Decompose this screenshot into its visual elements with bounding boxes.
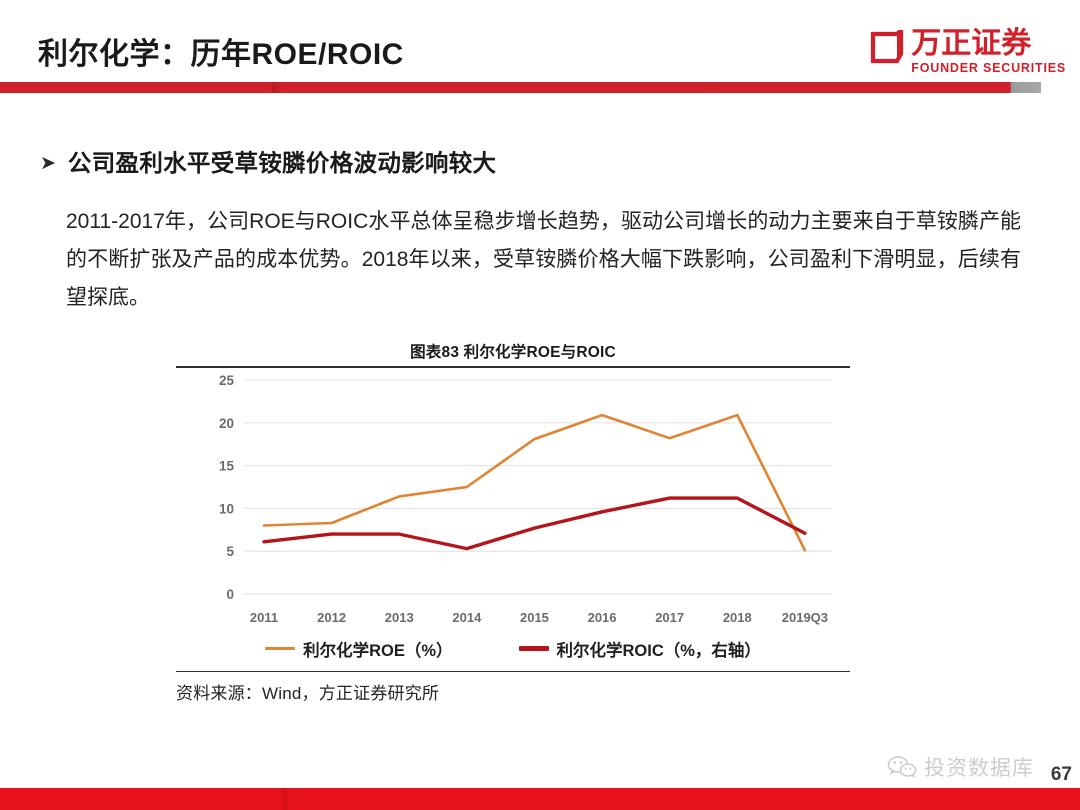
- line-chart-svg: 0510152025 20112012201320142015201620172…: [176, 368, 850, 636]
- bottom-accent-band: [0, 788, 1080, 810]
- chart-series-lines: [264, 415, 805, 550]
- page-title: 利尔化学：历年ROE/ROIC: [38, 29, 404, 73]
- legend-swatch-roe: [265, 647, 295, 651]
- body-paragraph: 2011-2017年，公司ROE与ROIC水平总体呈稳步增长趋势，驱动公司增长的…: [66, 203, 1021, 317]
- x-tick-label: 2018: [723, 610, 752, 625]
- x-tick-label: 2014: [452, 610, 482, 625]
- arrow-bullet-icon: ➤: [40, 154, 56, 173]
- x-tick-label: 2012: [317, 610, 346, 625]
- legend-item-roic: 利尔化学ROIC（%，右轴）: [519, 637, 761, 661]
- chart-plot-area: 0510152025 20112012201320142015201620172…: [176, 368, 850, 636]
- bullet-heading-text: 公司盈利水平受草铵膦价格波动影响较大: [68, 144, 496, 178]
- series-line: [264, 498, 805, 548]
- x-tick-label: 2017: [655, 610, 684, 625]
- brand-name-cn: 万正证券: [911, 28, 1066, 60]
- chart-source-note: 资料来源：Wind，方正证券研究所: [176, 679, 850, 704]
- watermark-text: 投资数据库: [924, 752, 1034, 782]
- chart-title: 图表83 利尔化学ROE与ROIC: [176, 338, 850, 362]
- y-tick-label: 15: [219, 458, 235, 473]
- chart-y-axis-labels: 0510152025: [219, 373, 235, 602]
- wechat-icon: [887, 754, 917, 780]
- series-line: [264, 415, 805, 550]
- x-tick-label: 2011: [250, 610, 278, 625]
- x-tick-label: 2016: [588, 610, 617, 625]
- y-tick-label: 0: [226, 587, 234, 602]
- founder-securities-mark-icon: [870, 30, 904, 66]
- legend-label-roe: 利尔化学ROE（%）: [303, 637, 452, 661]
- brand-name-en: FOUNDER SECURITIES: [911, 61, 1066, 75]
- x-tick-label: 2015: [520, 610, 549, 625]
- legend-label-roic: 利尔化学ROIC（%，右轴）: [557, 637, 761, 661]
- y-tick-label: 25: [219, 373, 235, 388]
- brand-logo: 万正证券 FOUNDER SECURITIES: [870, 28, 1066, 86]
- y-tick-label: 20: [219, 415, 234, 430]
- bullet-heading-row: ➤ 公司盈利水平受草铵膦价格波动影响较大: [40, 144, 496, 178]
- chart-figure: 图表83 利尔化学ROE与ROIC 0510152025 20112012201…: [176, 338, 850, 703]
- x-tick-label: 2019Q3: [782, 610, 828, 625]
- watermark: 投资数据库: [887, 752, 1034, 782]
- legend-swatch-roic: [519, 646, 549, 650]
- legend-item-roe: 利尔化学ROE（%）: [265, 637, 452, 661]
- slide-canvas: 利尔化学：历年ROE/ROIC 万正证券 FOUNDER SECURITIES …: [0, 0, 1080, 810]
- page-number: 67: [1051, 764, 1072, 786]
- chart-legend: 利尔化学ROE（%） 利尔化学ROIC（%，右轴）: [176, 637, 850, 661]
- chart-x-axis-labels: 201120122013201420152016201720182019Q3: [250, 610, 828, 625]
- chart-footer-divider: [176, 671, 850, 673]
- chart-gridlines: [244, 380, 832, 594]
- y-tick-label: 10: [219, 501, 234, 516]
- y-tick-label: 5: [226, 544, 234, 559]
- x-tick-label: 2013: [385, 610, 414, 625]
